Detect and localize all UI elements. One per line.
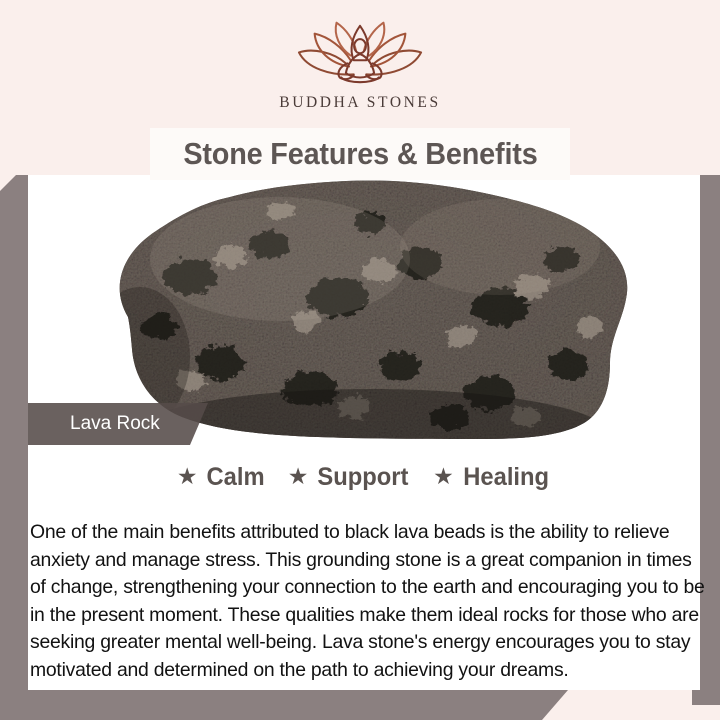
frame-band-left: [0, 175, 28, 720]
star-icon: ★: [433, 465, 454, 488]
benefit-label: Healing: [463, 463, 549, 492]
benefit-item-calm: ★ Calm: [177, 463, 266, 492]
photo-caption-band: Lava Rock: [28, 403, 208, 445]
benefit-label: Support: [318, 463, 409, 492]
benefits-row: ★ Calm ★ Support ★ Healing: [28, 463, 700, 492]
brand-name: BUDDHA STONES: [0, 94, 720, 112]
benefit-label: Calm: [206, 463, 264, 492]
benefit-item-support: ★ Support: [288, 463, 411, 492]
title-banner: Stone Features & Benefits: [150, 128, 570, 180]
description-paragraph: One of the main benefits attributed to b…: [30, 519, 706, 684]
frame-band-bottom: [0, 690, 568, 720]
star-icon: ★: [177, 465, 198, 488]
lotus-meditation-figure-icon: [280, 18, 440, 90]
photo-caption-label: Lava Rock: [70, 413, 160, 435]
brand-logo: BUDDHA STONES: [0, 18, 720, 112]
page-title: Stone Features & Benefits: [183, 136, 537, 172]
infographic-page: BUDDHA STONES: [0, 0, 720, 720]
benefit-item-healing: ★ Healing: [433, 463, 551, 492]
star-icon: ★: [288, 465, 309, 488]
